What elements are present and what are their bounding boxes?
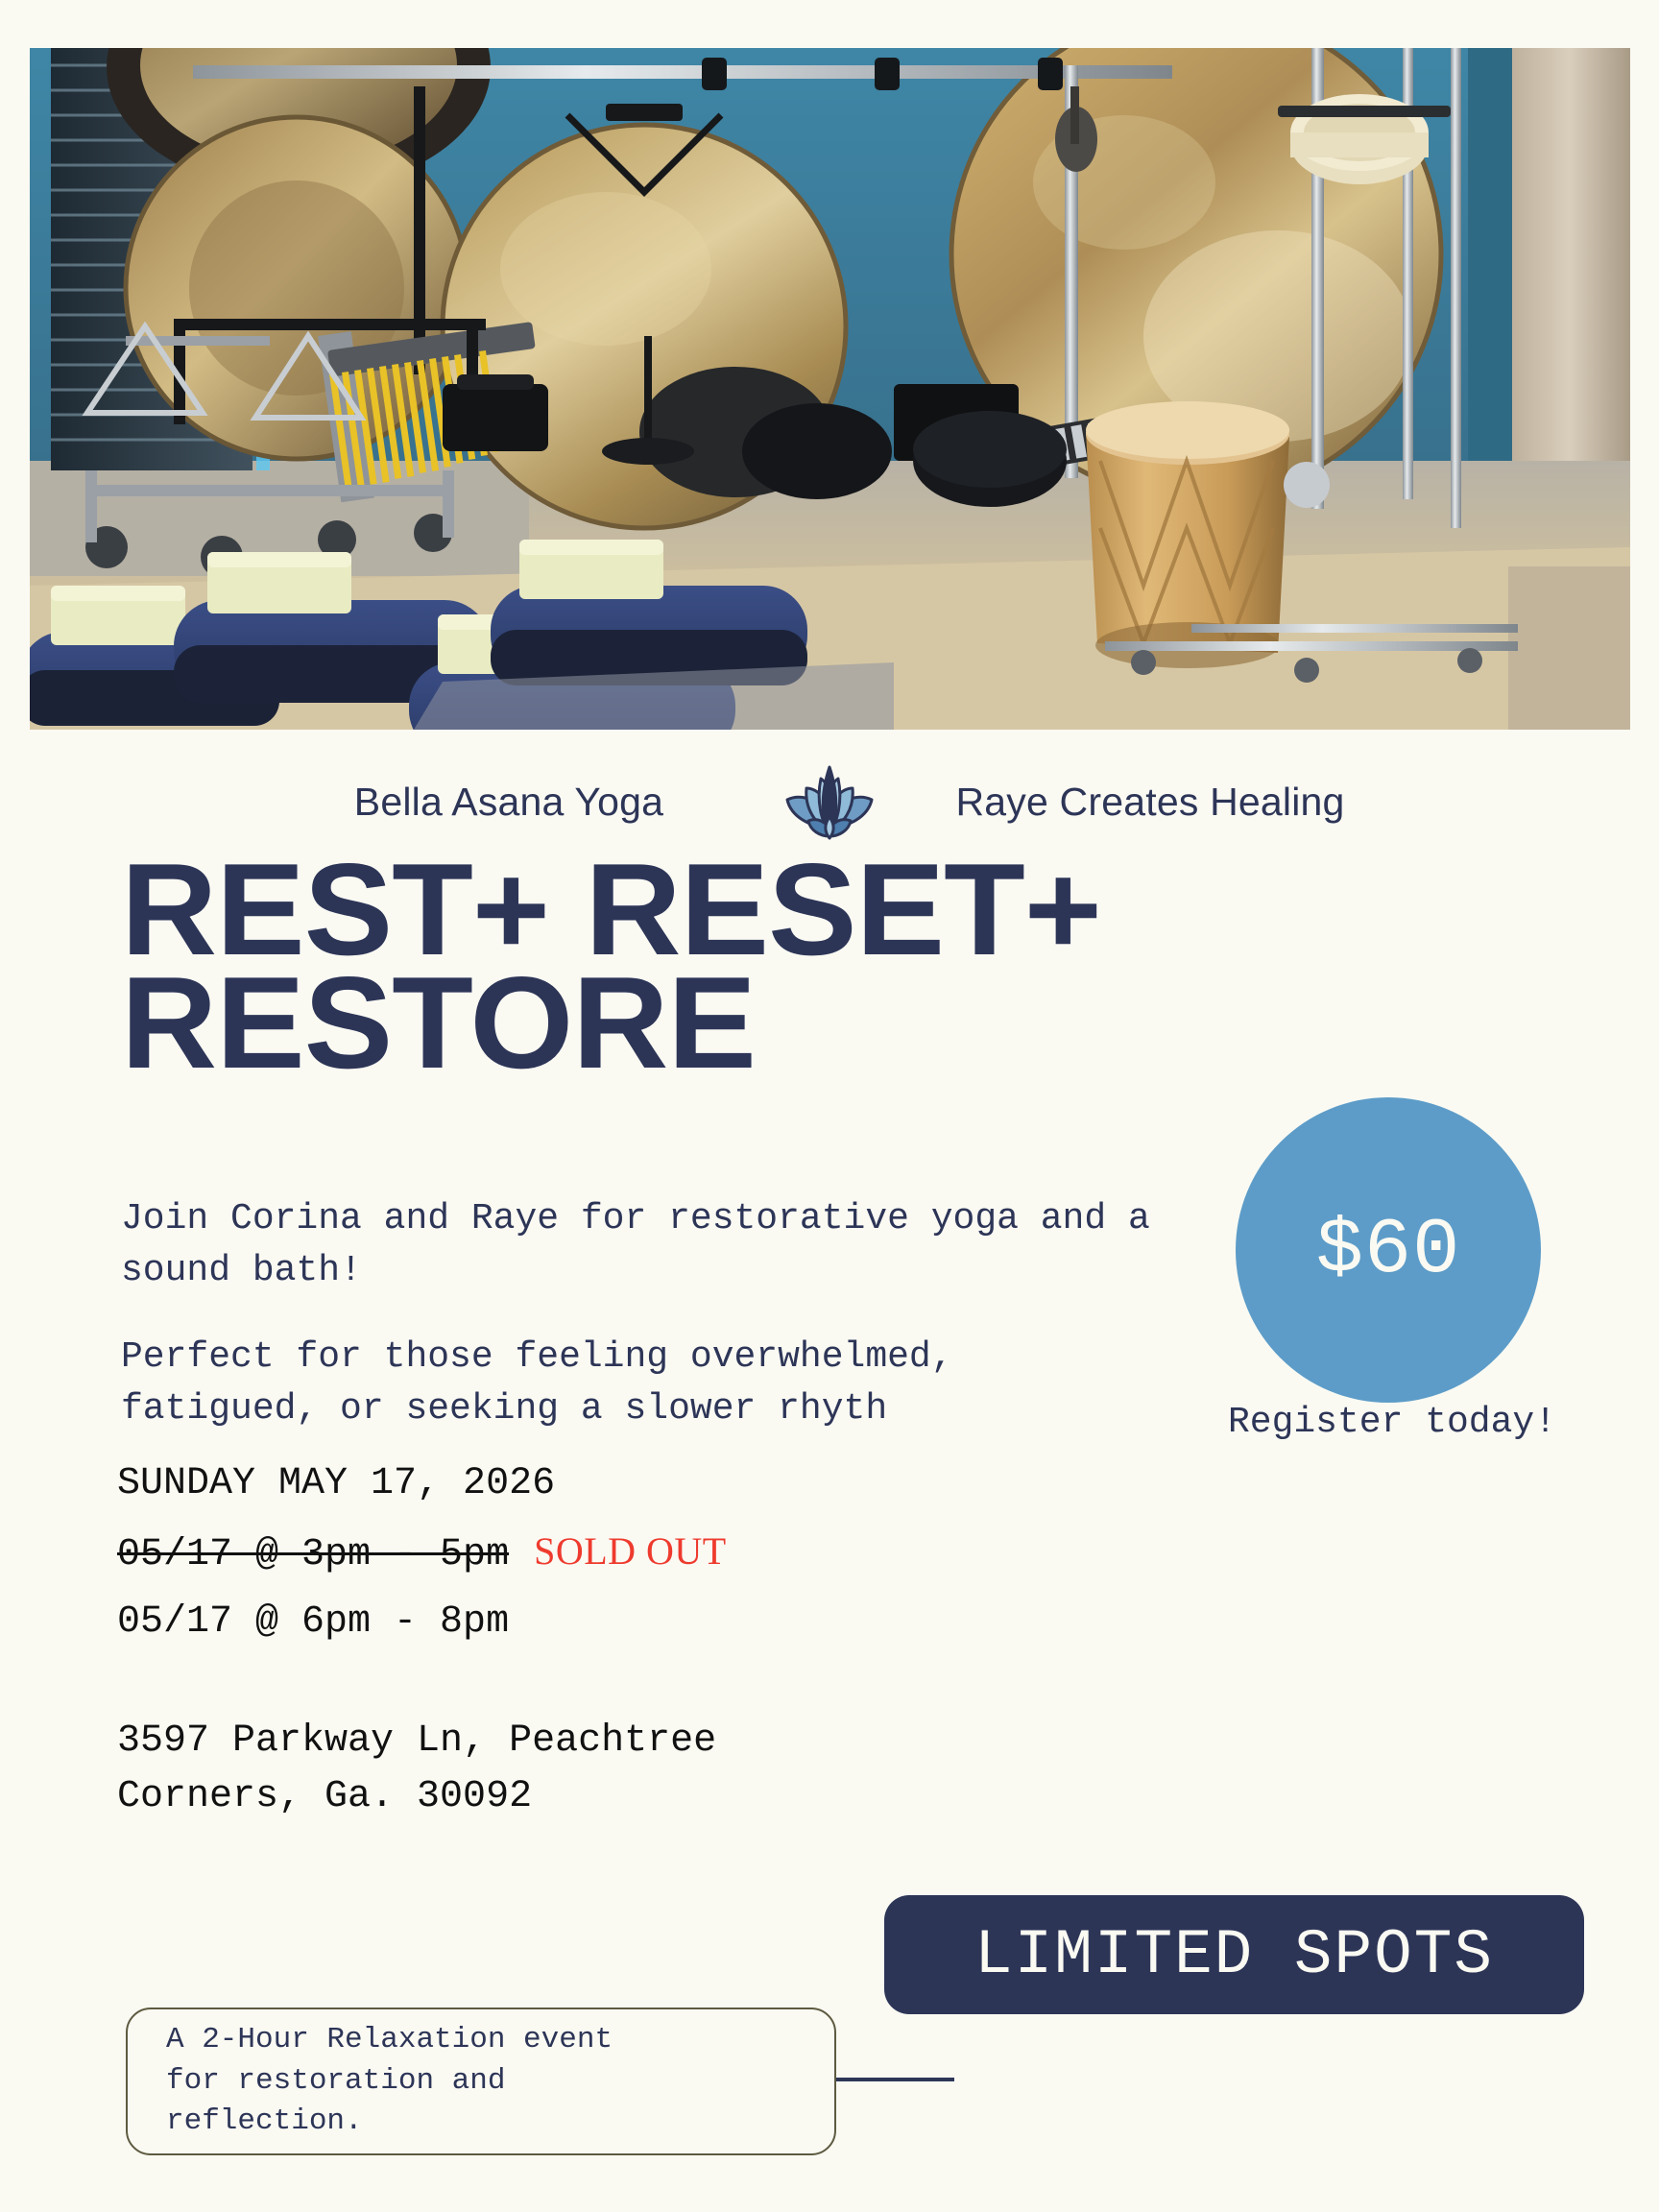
callout-connector-line [836,2078,954,2081]
limited-spots-badge: LIMITED SPOTS [884,1895,1584,2014]
brand-right-studio: Raye Creates Healing [881,780,1419,825]
callout-line-3: reflection. [166,2102,613,2143]
address-line-1: 3597 Parkway Ln, Peachtree [117,1714,716,1769]
price-amount: $60 [1316,1206,1461,1295]
address-line-2: Corners, Ga. 30092 [117,1769,716,1825]
body-paragraph-1: Join Corina and Raye for restorative yog… [121,1193,1158,1297]
limited-spots-label: LIMITED SPOTS [974,1919,1494,1991]
event-details: SUNDAY MAY 17, 2026 05/17 @ 3pm - 5pmSOL… [117,1464,1125,1670]
flyer-page: Bella Asana Yoga [0,0,1659,2212]
session-1-time: 05/17 @ 3pm - 5pm [117,1535,509,1575]
hero-photo-illustration [30,48,1630,730]
page-title: REST+ RESET+ RESTORE [121,853,1531,1080]
session-2-time: 05/17 @ 6pm - 8pm [117,1602,1125,1643]
status-badge-sold-out: SOLD OUT [534,1531,727,1572]
callout-box: A 2-Hour Relaxation event for restoratio… [126,2008,836,2155]
event-address: 3597 Parkway Ln, Peachtree Corners, Ga. … [117,1714,716,1825]
headline-line-2: RESTORE [121,966,1531,1079]
callout-text: A 2-Hour Relaxation event for restoratio… [128,2020,613,2143]
callout-line-2: for restoration and [166,2061,613,2103]
body-paragraph-2: Perfect for those feeling overwhelmed, f… [121,1332,1158,1435]
event-date: SUNDAY MAY 17, 2026 [117,1464,1125,1504]
price-badge: $60 [1236,1097,1541,1403]
brand-left-studio: Bella Asana Yoga [240,780,778,825]
register-cta[interactable]: Register today! [1181,1402,1603,1443]
body-copy: Join Corina and Raye for restorative yog… [121,1193,1158,1435]
session-1-row: 05/17 @ 3pm - 5pmSOLD OUT [117,1531,1125,1575]
callout-line-1: A 2-Hour Relaxation event [166,2020,613,2061]
hero-photo [30,48,1630,730]
lotus-icon [781,754,878,850]
